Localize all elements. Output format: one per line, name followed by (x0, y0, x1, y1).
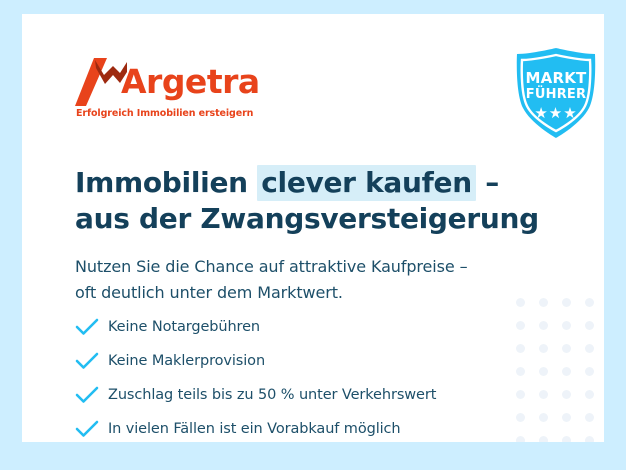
decorative-dot (562, 367, 571, 376)
decorative-dot (562, 390, 571, 399)
decorative-dot (585, 413, 594, 422)
check-icon (75, 385, 99, 405)
decorative-dot (562, 436, 571, 442)
decorative-dot (585, 390, 594, 399)
list-item: Keine Notargebühren (75, 312, 545, 342)
subheading: Nutzen Sie die Chance auf attraktive Kau… (75, 254, 575, 306)
logo-tagline: Erfolgreich Immobilien ersteigern (76, 108, 253, 119)
headline-line-2: aus der Zwangsversteigerung (75, 201, 575, 237)
check-icon (75, 419, 99, 439)
decorative-dot (585, 367, 594, 376)
list-item-label: In vielen Fällen ist ein Vorabkauf mögli… (108, 421, 401, 437)
check-icon (75, 317, 99, 337)
promo-card: Argetra Erfolgreich Immobilien ersteiger… (22, 14, 604, 442)
list-item: Keine Maklerprovision (75, 346, 545, 376)
argetra-logo[interactable]: Argetra Erfolgreich Immobilien ersteiger… (75, 56, 275, 126)
page-title: Immobilien clever kaufen – aus der Zwang… (75, 165, 575, 237)
decorative-dot (585, 436, 594, 442)
subheading-line-1: Nutzen Sie die Chance auf attraktive Kau… (75, 254, 575, 280)
markt-fuehrer-badge: MARKT FÜHRER ★★★ (509, 46, 603, 140)
headline-prefix: Immobilien (75, 166, 257, 199)
decorative-dot (562, 413, 571, 422)
decorative-dot (562, 344, 571, 353)
benefits-checklist: Keine NotargebührenKeine Maklerprovision… (75, 312, 545, 442)
headline-highlight: clever kaufen (257, 165, 476, 201)
headline-suffix: – (476, 166, 499, 199)
list-item-label: Zuschlag teils bis zu 50 % unter Verkehr… (108, 387, 436, 403)
decorative-dot (562, 321, 571, 330)
headline-line-1: Immobilien clever kaufen – (75, 165, 575, 201)
list-item: Zuschlag teils bis zu 50 % unter Verkehr… (75, 380, 545, 410)
check-icon (75, 351, 99, 371)
decorative-dot (585, 321, 594, 330)
list-item: In vielen Fällen ist ein Vorabkauf mögli… (75, 414, 545, 442)
argetra-roof-mark-icon (75, 58, 127, 106)
promo-banner-frame: Argetra Erfolgreich Immobilien ersteiger… (0, 0, 626, 470)
subheading-line-2: oft deutlich unter dem Marktwert. (75, 280, 575, 306)
list-item-label: Keine Notargebühren (108, 319, 260, 335)
shield-badge-icon (509, 46, 603, 140)
logo-row: Argetra (75, 56, 275, 106)
list-item-label: Keine Maklerprovision (108, 353, 265, 369)
decorative-dot (585, 298, 594, 307)
logo-wordmark: Argetra (121, 65, 260, 98)
decorative-dot (585, 344, 594, 353)
